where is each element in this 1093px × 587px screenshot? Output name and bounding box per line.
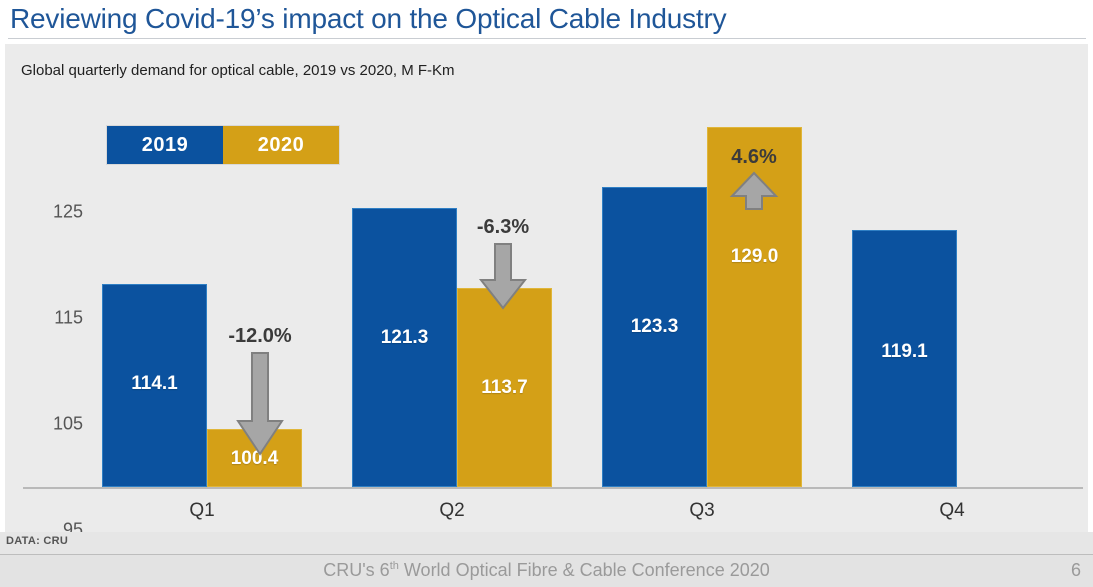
bar-q1-2019[interactable]: 114.1 <box>102 284 207 487</box>
x-axis-line <box>23 487 1083 489</box>
y-axis-tick-115: 115 <box>21 308 83 329</box>
x-axis-label-q1: Q1 <box>102 500 302 522</box>
x-axis-label-q4: Q4 <box>852 500 1052 522</box>
bar-q3-2019[interactable]: 123.3 <box>602 187 707 487</box>
page-number: 6 <box>1071 560 1081 581</box>
conference-name-prefix: CRU's 6 <box>323 560 389 580</box>
delta-value-q1: -12.0% <box>228 325 291 347</box>
bar-value-q3-2019: 123.3 <box>603 316 706 338</box>
bar-group-q4: 119.1 <box>852 227 1052 487</box>
data-source-label: DATA: CRU <box>6 535 68 547</box>
x-axis-label-q3: Q3 <box>602 500 802 522</box>
arrow-down-icon <box>235 349 285 459</box>
chart-panel: Global quarterly demand for optical cabl… <box>5 44 1088 532</box>
bar-q2-2020[interactable]: 113.7 <box>457 288 552 487</box>
data-source-bar: DATA: CRU <box>0 532 1093 555</box>
y-axis-tick-105: 105 <box>21 414 83 435</box>
delta-value-q3: 4.6% <box>731 146 777 168</box>
y-axis-tick-125: 125 <box>21 202 83 223</box>
arrow-down-icon <box>478 240 528 312</box>
bar-value-q2-2019: 121.3 <box>353 327 456 349</box>
bar-group-q3: 123.3 129.0 <box>602 187 802 487</box>
delta-callout-q1: -12.0% <box>205 325 315 459</box>
arrow-up-icon <box>729 170 779 212</box>
title-divider <box>8 38 1086 39</box>
page-title: Reviewing Covid-19’s impact on the Optic… <box>10 0 1083 40</box>
delta-callout-q2: -6.3% <box>448 216 558 312</box>
plot-area: 125 115 105 95 114.1 100.4 Q1 -12.0% 121… <box>5 44 1088 532</box>
footer-bar: CRU's 6th World Optical Fibre & Cable Co… <box>0 555 1093 587</box>
bar-value-q3-2020: 129.0 <box>708 246 801 268</box>
conference-name-ordinal: th <box>390 560 399 572</box>
bar-q2-2019[interactable]: 121.3 <box>352 208 457 487</box>
x-axis-label-q2: Q2 <box>352 500 552 522</box>
delta-callout-q3: 4.6% <box>699 146 809 212</box>
bar-value-q2-2020: 113.7 <box>458 377 551 399</box>
delta-value-q2: -6.3% <box>477 216 529 238</box>
bar-value-q1-2019: 114.1 <box>103 373 206 395</box>
conference-name-suffix: World Optical Fibre & Cable Conference 2… <box>399 560 770 580</box>
conference-name: CRU's 6th World Optical Fibre & Cable Co… <box>0 560 1093 581</box>
bar-q4-2019[interactable]: 119.1 <box>852 230 957 487</box>
bar-value-q4-2019: 119.1 <box>853 341 956 363</box>
